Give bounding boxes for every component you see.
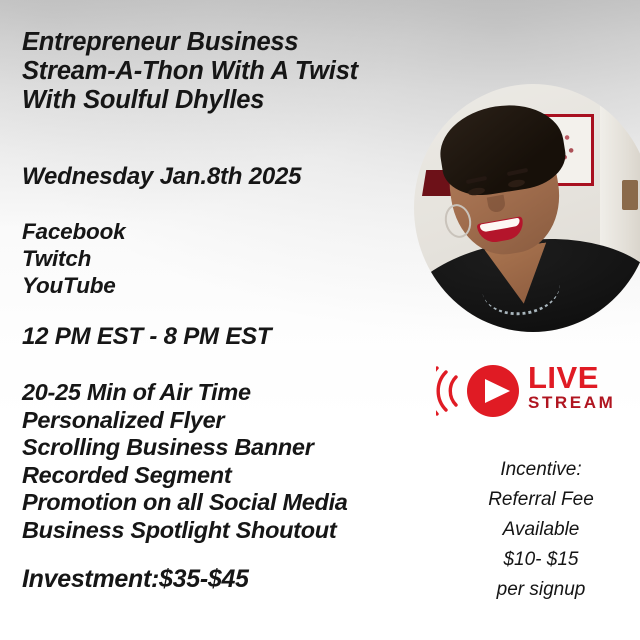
incentive-block: Incentive: Referral Fee Available $10- $… — [448, 455, 634, 605]
benefits-list: 20-25 Min of Air Time Personalized Flyer… — [22, 379, 348, 544]
platform-item-youtube: YouTube — [22, 272, 125, 299]
platform-list: Facebook Twitch YouTube — [22, 218, 125, 299]
platform-item-facebook: Facebook — [22, 218, 125, 245]
promotional-flyer: Entrepreneur Business Stream-A-Thon With… — [0, 0, 640, 640]
flyer-title: Entrepreneur Business Stream-A-Thon With… — [22, 28, 358, 115]
benefit-item-recorded-segment: Recorded Segment — [22, 462, 348, 490]
incentive-per-signup: per signup — [448, 575, 634, 605]
benefit-item-personalized-flyer: Personalized Flyer — [22, 407, 348, 435]
live-stream-wordmark: LIVE STREAM — [528, 363, 615, 413]
host-portrait-photo — [414, 84, 640, 332]
incentive-amount: $10- $15 — [448, 545, 634, 575]
benefit-item-social-promotion: Promotion on all Social Media — [22, 489, 348, 517]
investment-price: Investment:$35-$45 — [22, 565, 249, 594]
incentive-heading: Incentive: — [448, 455, 634, 485]
benefit-item-scrolling-banner: Scrolling Business Banner — [22, 434, 348, 462]
event-time-range: 12 PM EST - 8 PM EST — [22, 323, 271, 351]
benefit-item-air-time: 20-25 Min of Air Time — [22, 379, 348, 407]
incentive-available: Available — [448, 515, 634, 545]
event-date: Wednesday Jan.8th 2025 — [22, 163, 301, 191]
incentive-referral-fee: Referral Fee — [448, 485, 634, 515]
portrait-background — [414, 84, 640, 332]
platform-item-twitch: Twitch — [22, 245, 125, 272]
live-stream-badge: LIVE STREAM — [436, 361, 626, 421]
benefit-item-spotlight-shoutout: Business Spotlight Shoutout — [22, 517, 348, 545]
stream-label: STREAM — [528, 393, 615, 413]
live-label: LIVE — [528, 363, 615, 393]
shelf-object — [622, 180, 638, 210]
